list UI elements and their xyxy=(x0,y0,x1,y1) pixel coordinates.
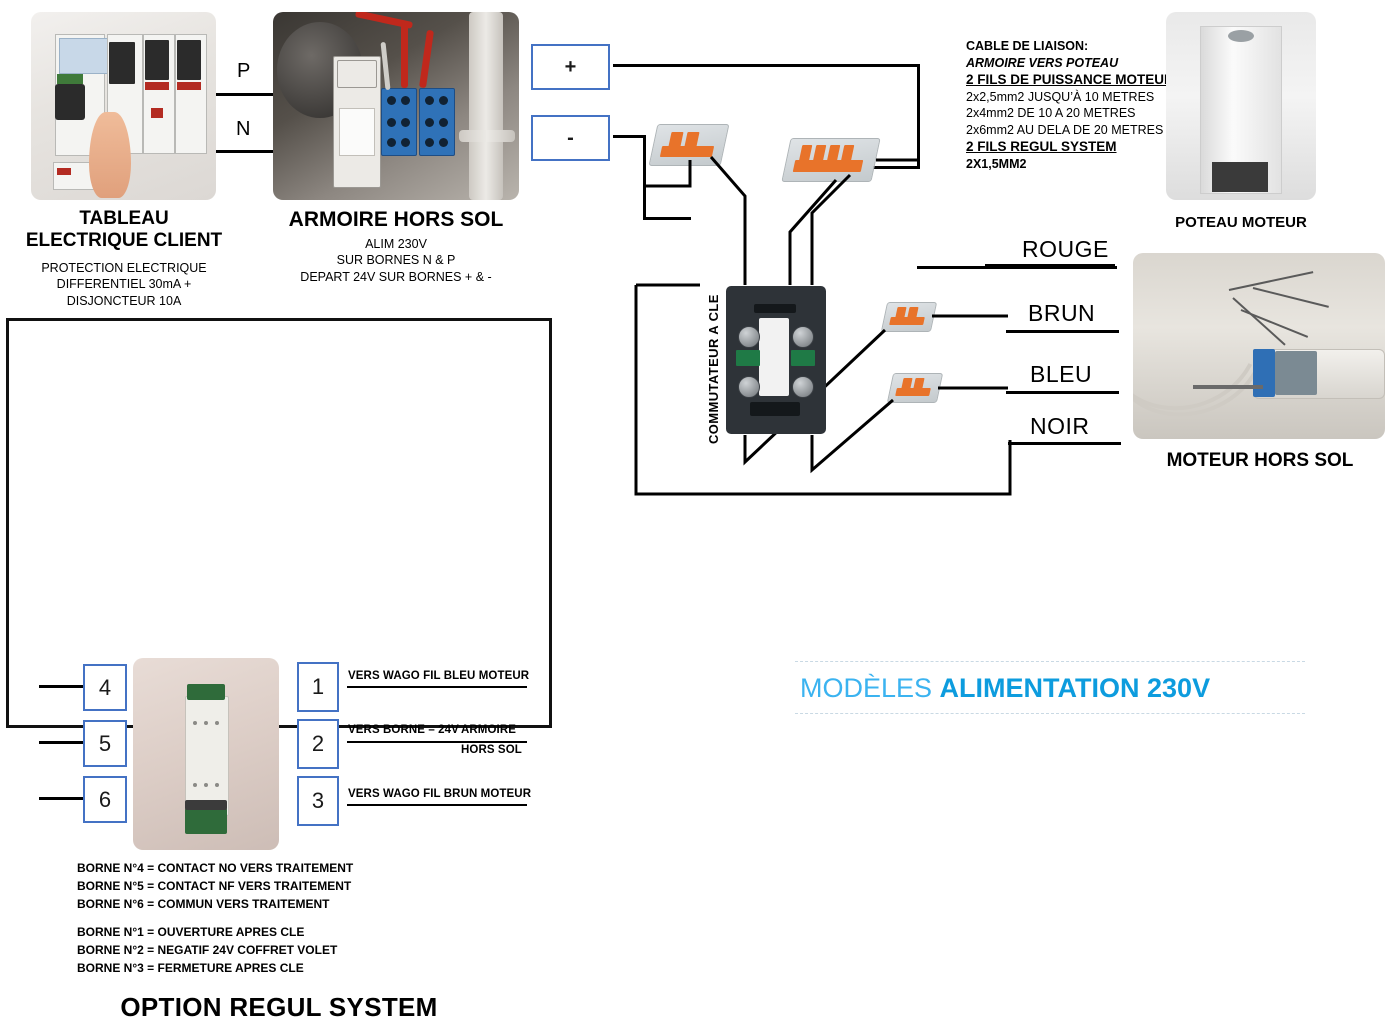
tableau-title-line1: TABLEAU xyxy=(79,208,168,229)
wire-label-bleu: BLEU xyxy=(1030,361,1092,388)
wire-wago1-to-switch-left xyxy=(711,157,745,285)
terminal-3-label: VERS WAGO FIL BRUN MOTEUR xyxy=(348,788,531,800)
legend-borne-5: BORNE N°5 = CONTACT NF VERS TRAITEMENT xyxy=(77,878,353,896)
tableau-sub3: DISJONCTEUR 10A xyxy=(10,293,238,309)
minus-terminal-box[interactable]: - xyxy=(531,115,610,161)
terminal-box-3[interactable]: 3 xyxy=(297,776,339,826)
terminal-1-underline xyxy=(347,686,527,688)
armoire-sub3: DEPART 24V SUR BORNES + & - xyxy=(250,269,542,285)
poteau-moteur-photo xyxy=(1166,12,1316,200)
footer-banner: MODÈLES ALIMENTATION 230V xyxy=(795,661,1305,713)
wire-label-noir: NOIR xyxy=(1030,413,1090,440)
minus-wire-h2 xyxy=(643,217,691,220)
armoire-sub1: ALIM 230V xyxy=(250,236,542,252)
terminal-2-label-line2: HORS SOL xyxy=(461,744,522,756)
footer-title-light: MODÈLES xyxy=(800,673,940,703)
regul-legend-group-1: BORNE N°4 = CONTACT NO VERS TRAITEMENT B… xyxy=(77,860,353,913)
cable-spec-heading: CABLE DE LIAISON: xyxy=(966,39,1088,53)
legend-borne-1: BORNE N°1 = OUVERTURE APRES CLE xyxy=(77,924,337,942)
cable-spec-regul-line: 2X1,5MM2 xyxy=(966,157,1026,171)
wire-label-rouge: ROUGE xyxy=(1022,236,1109,263)
terminal-2-label: VERS BORNE – 24V xyxy=(348,724,459,736)
plus-wire-vertical xyxy=(917,64,920,168)
tableau-electrique-photo xyxy=(31,12,216,200)
armoire-hors-sol-photo xyxy=(273,12,519,200)
terminal-6-leader xyxy=(39,797,87,800)
terminal-5-leader xyxy=(39,741,87,744)
terminal-2-label-right: ARMOIRE xyxy=(461,724,516,736)
cable-spec-power-line-3: 2x6mm2 AU DELA DE 20 METRES xyxy=(966,122,1178,139)
cable-spec-power-line-1: 2x2,5mm2 JUSQU’À 10 METRES xyxy=(966,89,1178,106)
terminal-1-label: VERS WAGO FIL BLEU MOTEUR xyxy=(348,670,529,682)
footer-title: MODÈLES ALIMENTATION 230V xyxy=(800,673,1210,704)
armoire-title: ARMOIRE HORS SOL xyxy=(258,208,534,232)
tableau-sub2: DIFFERENTIEL 30mA + xyxy=(10,276,238,292)
terminal-3-underline xyxy=(347,804,527,806)
tableau-title: TABLEAU ELECTRIQUE CLIENT xyxy=(10,208,238,252)
regul-module-photo xyxy=(133,658,279,850)
regul-legend-group-2: BORNE N°1 = OUVERTURE APRES CLE BORNE N°… xyxy=(77,924,337,977)
tableau-subtitle: PROTECTION ELECTRIQUE DIFFERENTIEL 30mA … xyxy=(10,260,238,309)
terminal-4-leader xyxy=(39,685,87,688)
poteau-moteur-caption: POTEAU MOTEUR xyxy=(1150,214,1332,231)
minus-wire-v1 xyxy=(643,135,646,220)
terminal-box-1[interactable]: 1 xyxy=(297,662,339,712)
phase-wire xyxy=(216,93,276,96)
moteur-hors-sol-photo xyxy=(1133,253,1385,439)
terminal-box-4[interactable]: 4 xyxy=(83,664,127,711)
key-switch-block xyxy=(726,286,826,434)
rouge-underline xyxy=(917,266,1117,269)
plus-wire-horizontal xyxy=(613,64,920,67)
bleu-underline xyxy=(1006,391,1119,394)
armoire-subtitle: ALIM 230V SUR BORNES N & P DEPART 24V SU… xyxy=(250,236,542,285)
cable-spec-power-line-2: 2x4mm2 DE 10 A 20 METRES xyxy=(966,105,1178,122)
terminal-box-2[interactable]: 2 xyxy=(297,719,339,769)
cable-spec-regul-heading: 2 FILS REGUL SYSTEM xyxy=(966,139,1117,154)
minus-wire-h1 xyxy=(613,135,646,138)
wago-connector-brun xyxy=(884,302,934,332)
cable-spec-block: CABLE DE LIAISON: ARMOIRE VERS POTEAU 2 … xyxy=(966,38,1178,173)
tableau-title-line2: ELECTRIQUE CLIENT xyxy=(26,230,222,251)
commutateur-a-cle-label: COMMUTATEUR A CLE xyxy=(706,294,721,444)
noir-underline xyxy=(1008,442,1121,445)
legend-borne-2: BORNE N°2 = NEGATIF 24V COFFRET VOLET xyxy=(77,942,337,960)
cable-spec-subheading: ARMOIRE VERS POTEAU xyxy=(966,56,1118,70)
legend-borne-3: BORNE N°3 = FERMETURE APRES CLE xyxy=(77,960,337,978)
moteur-hors-sol-caption: MOTEUR HORS SOL xyxy=(1140,450,1380,472)
wire-wago2-to-switch-right xyxy=(812,175,850,285)
phase-label: P xyxy=(237,60,250,83)
tableau-sub1: PROTECTION ELECTRIQUE xyxy=(10,260,238,276)
cable-spec-power-heading: 2 FILS DE PUISSANCE MOTEUR xyxy=(966,72,1174,87)
neutral-wire xyxy=(216,150,276,153)
footer-title-bold: ALIMENTATION 230V xyxy=(940,673,1211,703)
brun-underline xyxy=(1006,330,1119,333)
wire-wago2-to-switch-right2 xyxy=(790,180,836,285)
wire-label-brun: BRUN xyxy=(1028,300,1095,327)
terminal-2-underline xyxy=(347,741,527,743)
armoire-sub2: SUR BORNES N & P xyxy=(250,252,542,268)
legend-borne-6: BORNE N°6 = COMMUN VERS TRAITEMENT xyxy=(77,896,353,914)
wago-connector-bleu xyxy=(890,373,940,403)
legend-borne-4: BORNE N°4 = CONTACT NO VERS TRAITEMENT xyxy=(77,860,353,878)
plus-terminal-box[interactable]: + xyxy=(531,44,610,90)
option-regul-system-panel: 4 5 6 1 VERS WAGO FIL BLEU MOTEUR 2 VERS… xyxy=(6,318,552,728)
neutral-label: N xyxy=(236,118,250,141)
regul-panel-title: OPTION REGUL SYSTEM xyxy=(9,992,549,1023)
footer-rule-top xyxy=(795,661,1305,662)
wago-connector-top-right xyxy=(786,138,876,182)
terminal-box-5[interactable]: 5 xyxy=(83,720,127,767)
wago-connector-top-left xyxy=(653,124,725,166)
footer-rule-bottom xyxy=(795,713,1305,714)
terminal-box-6[interactable]: 6 xyxy=(83,776,127,823)
